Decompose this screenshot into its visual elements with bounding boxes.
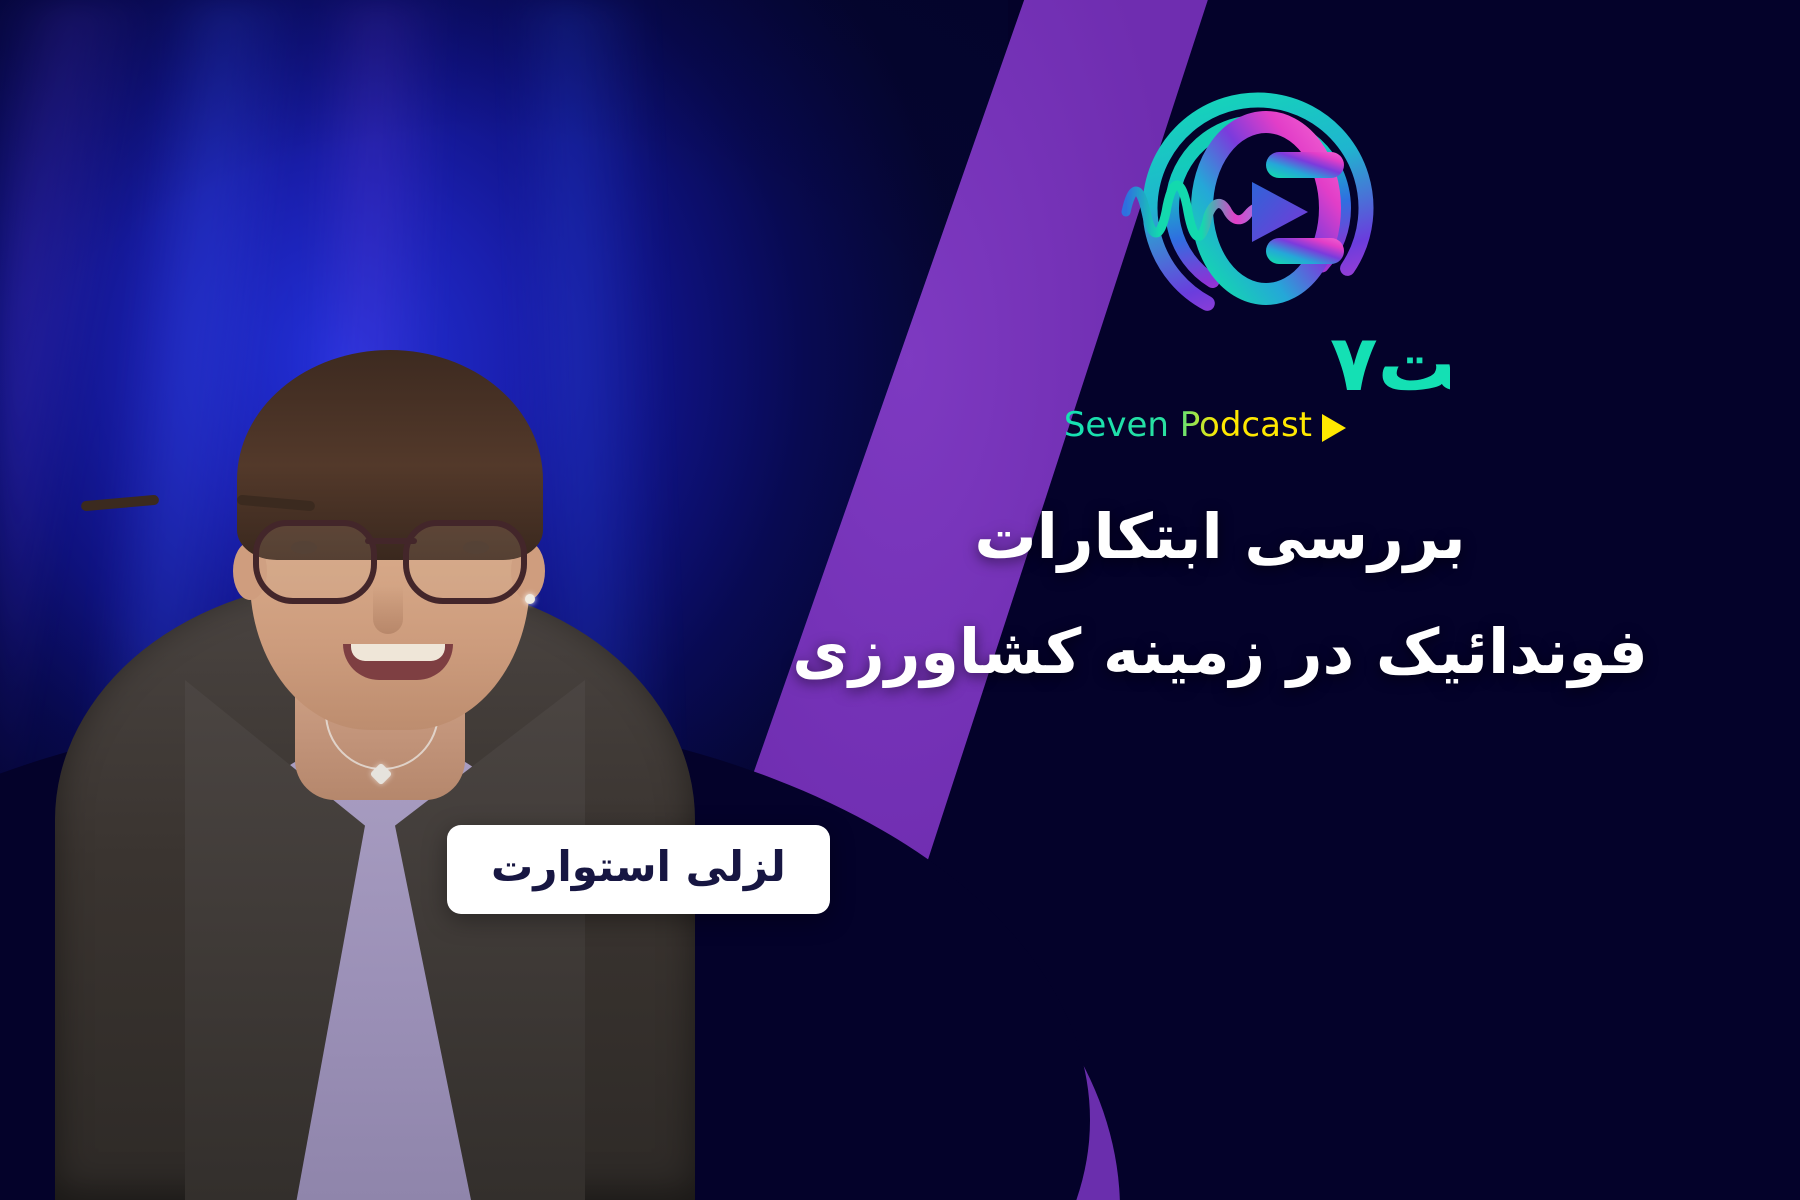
seven-podcast-logo: پادکست۷ Seven Podcast xyxy=(1030,88,1450,468)
logo-wordmark-fa: پادکست۷ xyxy=(1330,319,1450,409)
portrait-teeth xyxy=(351,644,445,661)
logo-wordmark-en: Seven Podcast xyxy=(1064,405,1312,445)
portrait-eyebrow-left xyxy=(81,495,160,512)
eyeglass-bridge xyxy=(365,538,417,544)
portrait-earring xyxy=(525,594,535,604)
episode-title-line2: فوندائیک در زمینه کشاورزی xyxy=(760,595,1680,710)
portrait-nose xyxy=(373,586,403,634)
logo-play-icon-small xyxy=(1322,414,1346,442)
episode-title: بررسی ابتکارات فوندائیک در زمینه کشاورزی xyxy=(760,480,1680,709)
logo-play-triangle xyxy=(1252,182,1308,242)
eyeglass-lens-left xyxy=(253,520,377,604)
guest-name-badge: لزلی استوارت xyxy=(447,825,830,914)
podcast-thumbnail: پادکست۷ Seven Podcast بررسی ابتکارات فون… xyxy=(0,0,1800,1200)
guest-portrait xyxy=(55,70,695,1200)
episode-title-line1: بررسی ابتکارات xyxy=(760,480,1680,595)
eyeglass-lens-right xyxy=(403,520,527,604)
